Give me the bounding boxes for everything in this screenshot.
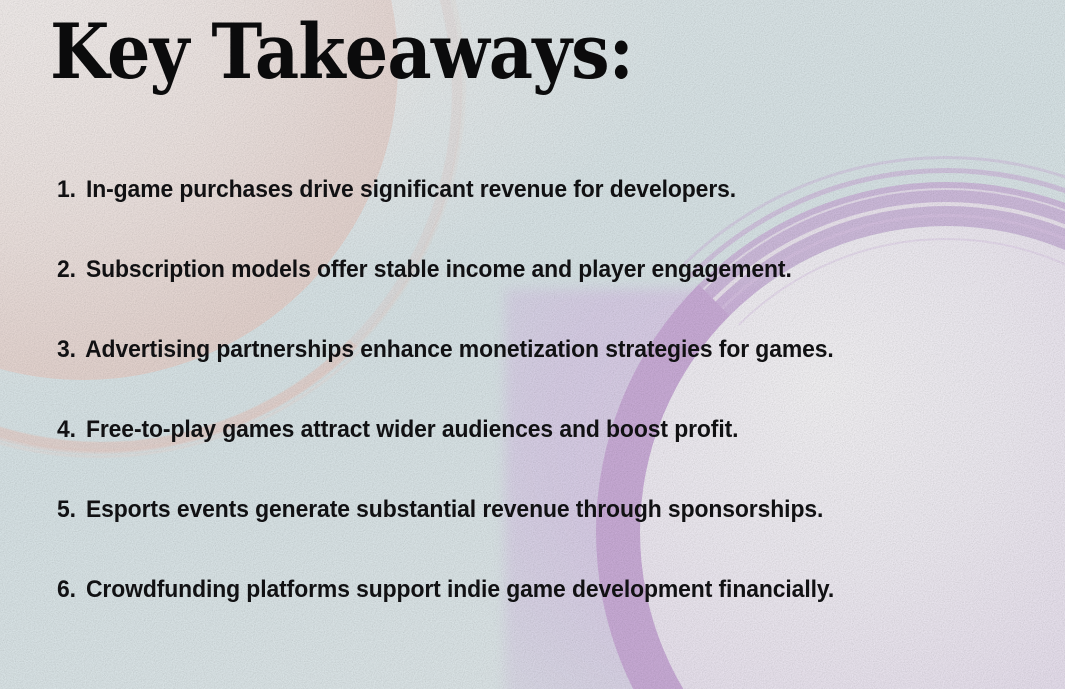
list-item-text: Crowdfunding platforms support indie gam… (86, 576, 834, 603)
list-item-number: 2. (57, 256, 76, 283)
page-title: Key Takeaways: (50, 14, 633, 90)
list-item-text: Esports events generate substantial reve… (86, 496, 823, 523)
list-item-number: 6. (57, 576, 76, 603)
list-item-number: 5. (57, 496, 76, 523)
list-item: 6. Crowdfunding platforms support indie … (57, 550, 927, 630)
list-item: 1. In-game purchases drive significant r… (57, 150, 927, 230)
takeaways-list: 1. In-game purchases drive significant r… (57, 150, 987, 630)
key-takeaways-poster: Key Takeaways: 1. In-game purchases driv… (0, 0, 1065, 689)
list-item: 2. Subscription models offer stable inco… (57, 230, 927, 310)
list-item-text: Free-to-play games attract wider audienc… (86, 416, 738, 443)
list-item-text: Subscription models offer stable income … (86, 256, 792, 283)
list-item-number: 3. (57, 336, 76, 363)
list-item-number: 1. (57, 176, 76, 203)
list-item: 3. Advertising partnerships enhance mone… (57, 310, 927, 390)
poster-content: Key Takeaways: 1. In-game purchases driv… (0, 0, 1065, 689)
list-item: 4. Free-to-play games attract wider audi… (57, 390, 927, 470)
list-item: 5. Esports events generate substantial r… (57, 470, 927, 550)
list-item-text: Advertising partnerships enhance monetiz… (85, 336, 834, 363)
list-item-number: 4. (57, 416, 76, 443)
list-item-text: In-game purchases drive significant reve… (86, 176, 736, 203)
